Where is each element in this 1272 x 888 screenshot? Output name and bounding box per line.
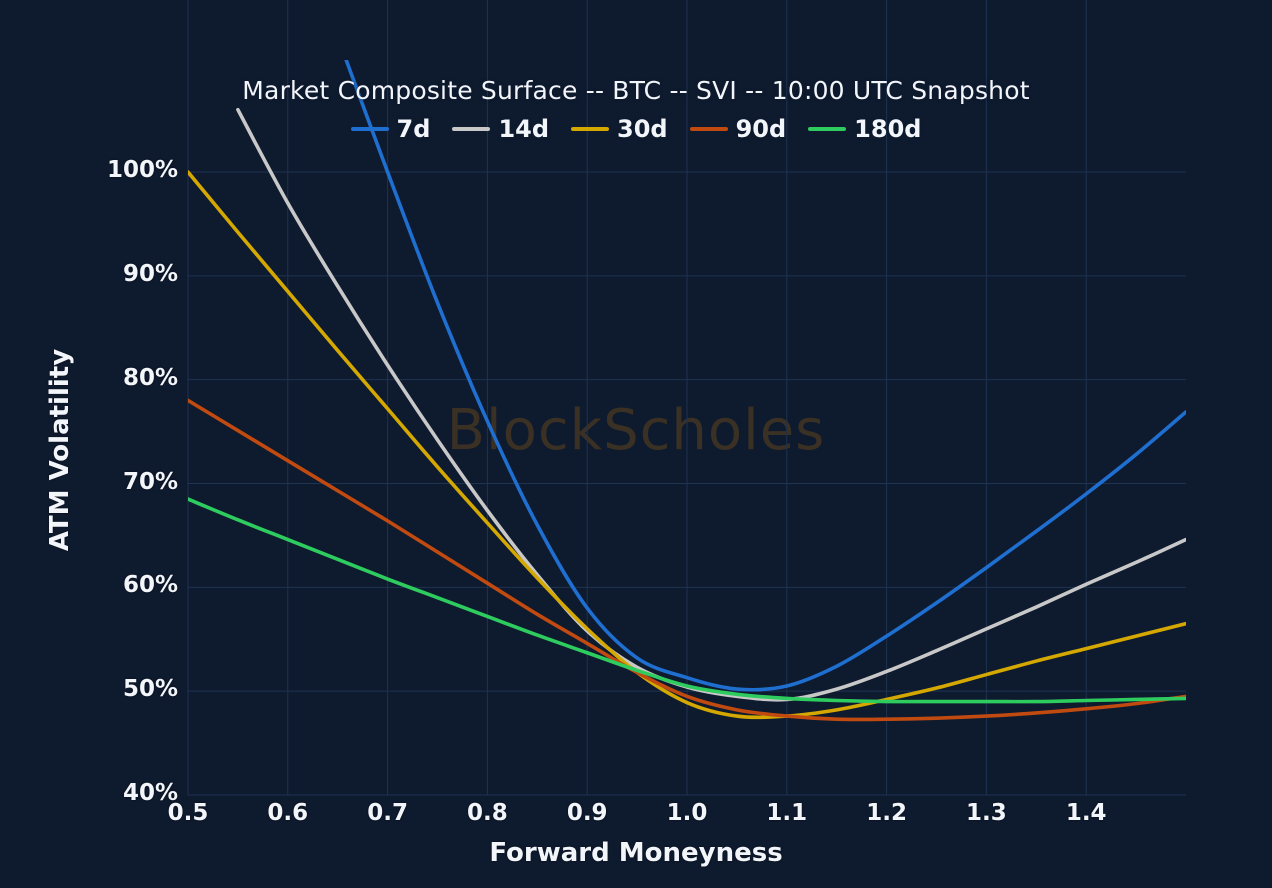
legend-item-180d[interactable]: 180d	[808, 115, 921, 143]
legend-swatch-30d	[571, 127, 609, 131]
legend-item-90d[interactable]: 90d	[690, 115, 787, 143]
legend-label-30d: 30d	[617, 115, 668, 143]
y-tick-label: 100%	[50, 157, 178, 183]
chart-title: Market Composite Surface -- BTC -- SVI -…	[0, 76, 1272, 105]
legend-label-90d: 90d	[736, 115, 787, 143]
x-tick-label: 1.4	[1036, 800, 1136, 826]
chart-figure: BlockScholes Market Composite Surface --…	[0, 0, 1272, 888]
legend-swatch-14d	[452, 127, 490, 131]
x-tick-label: 0.5	[138, 800, 238, 826]
chart-legend: 7d 14d 30d 90d 180d	[0, 115, 1272, 143]
legend-label-180d: 180d	[854, 115, 921, 143]
x-tick-label: 0.9	[537, 800, 637, 826]
legend-swatch-180d	[808, 127, 846, 131]
legend-swatch-7d	[351, 127, 389, 131]
x-tick-label: 1.3	[936, 800, 1036, 826]
y-tick-label: 80%	[50, 365, 178, 391]
legend-swatch-90d	[690, 127, 728, 131]
x-axis-label: Forward Moneyness	[0, 838, 1272, 868]
legend-label-14d: 14d	[498, 115, 549, 143]
x-tick-label: 1.2	[837, 800, 937, 826]
legend-item-7d[interactable]: 7d	[351, 115, 431, 143]
x-tick-label: 1.1	[737, 800, 837, 826]
legend-item-14d[interactable]: 14d	[452, 115, 549, 143]
y-tick-label: 70%	[50, 469, 178, 495]
legend-item-30d[interactable]: 30d	[571, 115, 668, 143]
x-tick-label: 0.7	[338, 800, 438, 826]
x-tick-label: 0.6	[238, 800, 338, 826]
y-tick-label: 60%	[50, 572, 178, 598]
y-tick-label: 50%	[50, 676, 178, 702]
legend-label-7d: 7d	[397, 115, 431, 143]
x-tick-label: 0.8	[437, 800, 537, 826]
x-tick-label: 1.0	[637, 800, 737, 826]
series-line-14d	[238, 110, 1186, 700]
y-tick-label: 90%	[50, 261, 178, 287]
